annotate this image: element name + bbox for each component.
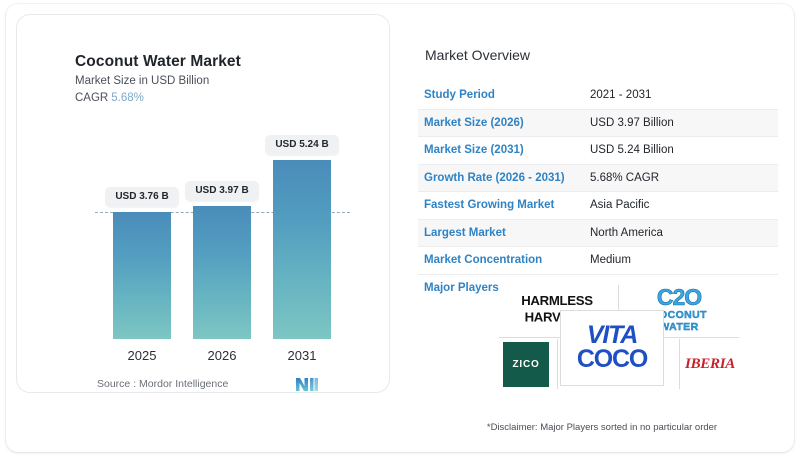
chart-card: Coconut Water Market Market Size in USD … <box>16 14 390 393</box>
x-tick-2025: 2025 <box>113 348 171 363</box>
disclaimer-text: *Disclaimer: Major Players sorted in no … <box>424 422 780 433</box>
chart-source: Source : Mordor Intelligence <box>97 378 228 390</box>
zico-wordmark: ZICO <box>512 359 539 370</box>
logo-grid-divider-vertical <box>557 339 558 389</box>
logo-vita-coco: VITA COCO <box>560 310 664 386</box>
iberia-wordmark: IBERIA <box>685 356 735 373</box>
x-tick-2026: 2026 <box>193 348 251 363</box>
market-overview-title: Market Overview <box>425 47 530 63</box>
mordor-intelligence-logo <box>295 377 319 392</box>
harmless-harvest-line1: HARMLESS <box>521 293 593 308</box>
row-value: Medium <box>590 254 631 266</box>
table-row: Fastest Growing Market Asia Pacific <box>418 192 778 220</box>
table-row: Market Concentration Medium <box>418 247 778 275</box>
table-row: Study Period 2021 - 2031 <box>418 82 778 110</box>
table-row: Market Size (2031) USD 5.24 Billion <box>418 137 778 165</box>
major-players-label: Major Players <box>424 282 499 294</box>
row-label: Market Size (2031) <box>418 144 590 156</box>
row-value: USD 3.97 Billion <box>590 117 674 129</box>
bar-2026 <box>193 206 251 339</box>
zico-box: ZICO <box>503 342 549 387</box>
bar-value-label: USD 3.97 B <box>185 181 259 201</box>
row-value: 5.68% CAGR <box>590 172 659 184</box>
logo-iberia: IBERIA <box>681 339 739 389</box>
table-row: Market Size (2026) USD 3.97 Billion <box>418 110 778 138</box>
c2o-wordmark: C2O <box>651 286 707 309</box>
logo-grid-divider-vertical <box>679 339 680 389</box>
bar-value-label: USD 3.76 B <box>105 187 179 207</box>
vita-coco-line2: COCO <box>577 348 647 372</box>
screenshot-root: Coconut Water Market Market Size in USD … <box>0 0 800 459</box>
market-overview-table: Study Period 2021 - 2031 Market Size (20… <box>418 82 778 275</box>
table-row: Growth Rate (2026 - 2031) 5.68% CAGR <box>418 165 778 193</box>
row-value: Asia Pacific <box>590 199 649 211</box>
row-label: Study Period <box>418 89 590 101</box>
bar-2025 <box>113 212 171 339</box>
row-value: 2021 - 2031 <box>590 89 651 101</box>
row-label: Growth Rate (2026 - 2031) <box>418 172 590 184</box>
row-value: USD 5.24 Billion <box>590 144 674 156</box>
row-label: Market Concentration <box>418 254 590 266</box>
table-row: Largest Market North America <box>418 220 778 248</box>
row-label: Market Size (2026) <box>418 117 590 129</box>
bar-value-label: USD 5.24 B <box>265 135 339 155</box>
row-label: Largest Market <box>418 227 590 239</box>
major-players-logos: HARMLESS HARVEST® C2O COCONUT WATER ZICO… <box>497 283 741 393</box>
bar-chart-plot: USD 3.76 B 2025 USD 3.97 B 2026 USD 5.24… <box>17 15 391 394</box>
x-tick-2031: 2031 <box>273 348 331 363</box>
logo-zico: ZICO <box>497 339 555 389</box>
row-value: North America <box>590 227 663 239</box>
bar-2031 <box>273 160 331 339</box>
row-label: Fastest Growing Market <box>418 199 590 211</box>
